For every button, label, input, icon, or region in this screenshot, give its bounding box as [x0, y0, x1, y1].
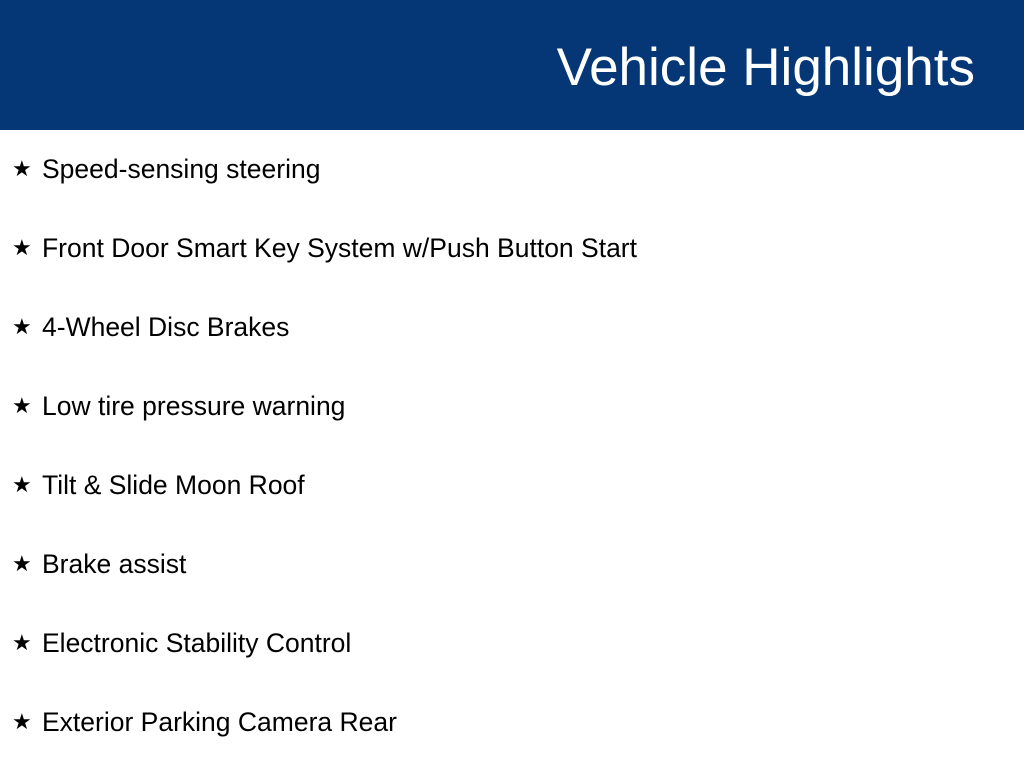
- slide-header-band: Vehicle Highlights: [0, 0, 1024, 130]
- feature-label: Front Door Smart Key System w/Push Butto…: [42, 235, 637, 262]
- vehicle-highlights-slide: Vehicle Highlights ★ Speed-sensing steer…: [0, 0, 1024, 768]
- page-title: Vehicle Highlights: [557, 41, 975, 94]
- star-bullet-icon: ★: [12, 633, 42, 655]
- feature-label: Speed-sensing steering: [42, 156, 320, 183]
- list-item: ★ 4-Wheel Disc Brakes: [12, 314, 289, 348]
- list-item: ★ Low tire pressure warning: [12, 393, 345, 427]
- feature-label: Brake assist: [42, 551, 186, 578]
- feature-label: 4-Wheel Disc Brakes: [42, 314, 289, 341]
- feature-label: Electronic Stability Control: [42, 630, 351, 657]
- list-item: ★ Exterior Parking Camera Rear: [12, 709, 397, 743]
- star-bullet-icon: ★: [12, 238, 42, 260]
- star-bullet-icon: ★: [12, 712, 42, 734]
- feature-label: Exterior Parking Camera Rear: [42, 709, 397, 736]
- list-item: ★ Electronic Stability Control: [12, 630, 351, 664]
- list-item: ★ Speed-sensing steering: [12, 156, 320, 190]
- vehicle-features-list: ★ Speed-sensing steering ★ Front Door Sm…: [0, 130, 1024, 768]
- list-item: ★ Tilt & Slide Moon Roof: [12, 472, 305, 506]
- list-item: ★ Front Door Smart Key System w/Push But…: [12, 235, 637, 269]
- feature-label: Low tire pressure warning: [42, 393, 345, 420]
- feature-label: Tilt & Slide Moon Roof: [42, 472, 305, 499]
- star-bullet-icon: ★: [12, 396, 42, 418]
- star-bullet-icon: ★: [12, 554, 42, 576]
- star-bullet-icon: ★: [12, 317, 42, 339]
- star-bullet-icon: ★: [12, 475, 42, 497]
- star-bullet-icon: ★: [12, 159, 42, 181]
- list-item: ★ Brake assist: [12, 551, 186, 585]
